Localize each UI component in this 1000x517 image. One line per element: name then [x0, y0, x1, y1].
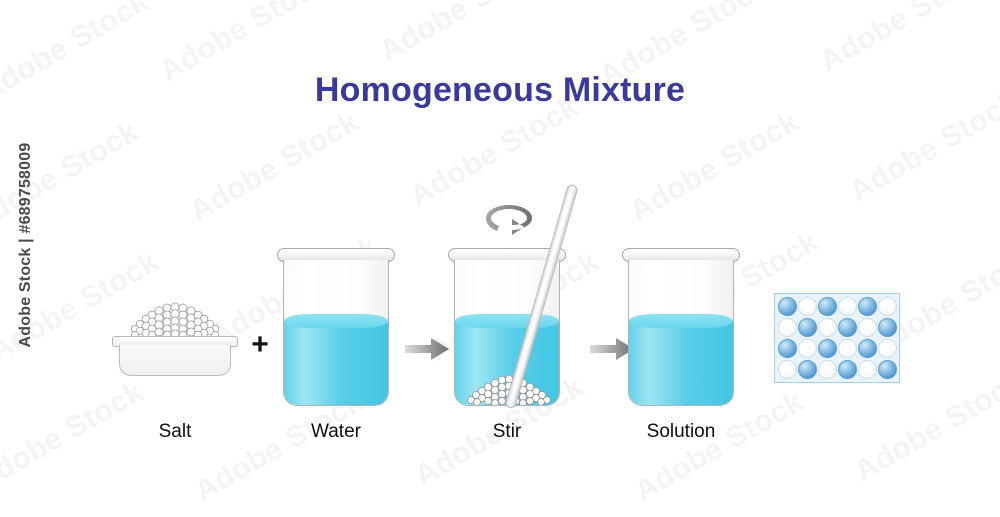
molecule-sphere-white: [818, 318, 837, 337]
beaker-stir: [448, 248, 566, 406]
molecule-sphere-white: [778, 360, 797, 379]
salt-grains-mound-icon: [126, 300, 224, 340]
figure-canvas: Adobe Stock Adobe Stock Adobe Stock Adob…: [0, 0, 1000, 517]
plus-sign: +: [248, 333, 272, 357]
molecule-sphere-white: [858, 360, 877, 379]
beaker-solution: [622, 248, 740, 406]
molecule-sphere-blue: [778, 297, 797, 316]
rotation-arrow-icon: [476, 200, 542, 240]
molecule-grid: [774, 293, 900, 383]
molecule-sphere-white: [798, 297, 817, 316]
molecule-sphere-blue: [778, 339, 797, 358]
molecule-sphere-white: [838, 339, 857, 358]
water-surface: [284, 314, 388, 328]
dish-body: [119, 345, 231, 376]
molecule-sphere-blue: [858, 297, 877, 316]
arrow-right-icon-1: [405, 337, 449, 361]
salt-dish: [112, 300, 238, 380]
molecule-sphere-white: [818, 360, 837, 379]
molecule-sphere-white: [878, 339, 897, 358]
molecule-sphere-blue: [818, 339, 837, 358]
molecule-sphere-white: [798, 339, 817, 358]
molecule-sphere-white: [838, 297, 857, 316]
label-stir: Stir: [447, 421, 567, 443]
molecule-sphere-blue: [818, 297, 837, 316]
molecule-sphere-blue: [878, 360, 897, 379]
adobe-stock-watermark: Adobe Stock | #689758009: [17, 115, 35, 375]
water-surface: [455, 314, 559, 328]
label-solution: Solution: [621, 421, 741, 443]
watermark-tile: Adobe Stock: [184, 105, 365, 229]
molecule-sphere-white: [778, 318, 797, 337]
beaker-water: [277, 248, 395, 406]
beaker-body: [283, 260, 389, 406]
molecule-grid-cells: [777, 296, 897, 380]
watermark-tile: Adobe Stock: [849, 365, 1000, 489]
molecule-sphere-blue: [858, 339, 877, 358]
molecule-sphere-white: [858, 318, 877, 337]
label-salt: Salt: [115, 421, 235, 443]
beaker-body: [628, 260, 734, 406]
water-fill: [284, 321, 388, 405]
molecule-sphere-blue: [798, 318, 817, 337]
label-water: Water: [276, 421, 396, 443]
figure-title: Homogeneous Mixture: [0, 71, 1000, 110]
water-surface: [629, 314, 733, 328]
molecule-sphere-blue: [838, 360, 857, 379]
molecule-sphere-blue: [838, 318, 857, 337]
molecule-sphere-blue: [798, 360, 817, 379]
watermark-tile: Adobe Stock: [624, 105, 805, 229]
water-fill: [629, 321, 733, 405]
watermark-tile: Adobe Stock: [374, 0, 555, 69]
watermark-tile: Adobe Stock: [814, 0, 995, 79]
molecule-sphere-blue: [878, 318, 897, 337]
molecule-sphere-white: [878, 297, 897, 316]
